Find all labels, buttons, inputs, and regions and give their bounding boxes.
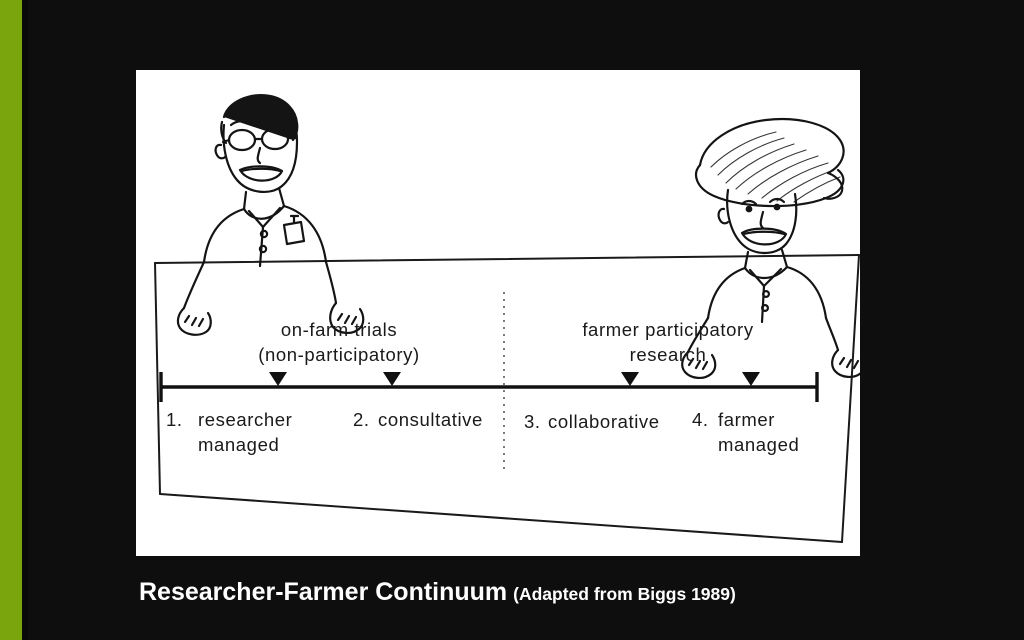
stage-4-line1: farmer <box>718 409 775 430</box>
caption-source: (Adapted from Biggs 1989) <box>513 584 736 604</box>
accent-bar-shadow <box>22 0 28 640</box>
figure-caption: Researcher-Farmer Continuum(Adapted from… <box>139 578 919 607</box>
stage-1-line1: researcher <box>198 409 292 430</box>
stage-4-number: 4. <box>692 409 709 430</box>
caption-title: Researcher-Farmer Continuum <box>139 578 507 606</box>
stage-3-number: 3. <box>524 411 541 432</box>
continuum-diagram-svg: on-farm trials (non-participatory) farme… <box>136 70 860 556</box>
continuum-figure: on-farm trials (non-participatory) farme… <box>136 70 860 556</box>
stage-1-line2: managed <box>198 434 279 455</box>
stage-2-number: 2. <box>353 409 370 430</box>
group-label-left-line1: on-farm trials <box>281 319 397 340</box>
slide: on-farm trials (non-participatory) farme… <box>0 0 1024 640</box>
group-label-right-line1: farmer participatory <box>582 319 754 340</box>
group-label-right-line2: research <box>630 344 707 365</box>
stage-4-line2: managed <box>718 434 799 455</box>
group-label-left-line2: (non-participatory) <box>258 344 420 365</box>
stage-1-number: 1. <box>166 409 183 430</box>
accent-bar <box>0 0 22 640</box>
stage-2-line1: consultative <box>378 409 483 430</box>
stage-3-line1: collaborative <box>548 411 660 432</box>
